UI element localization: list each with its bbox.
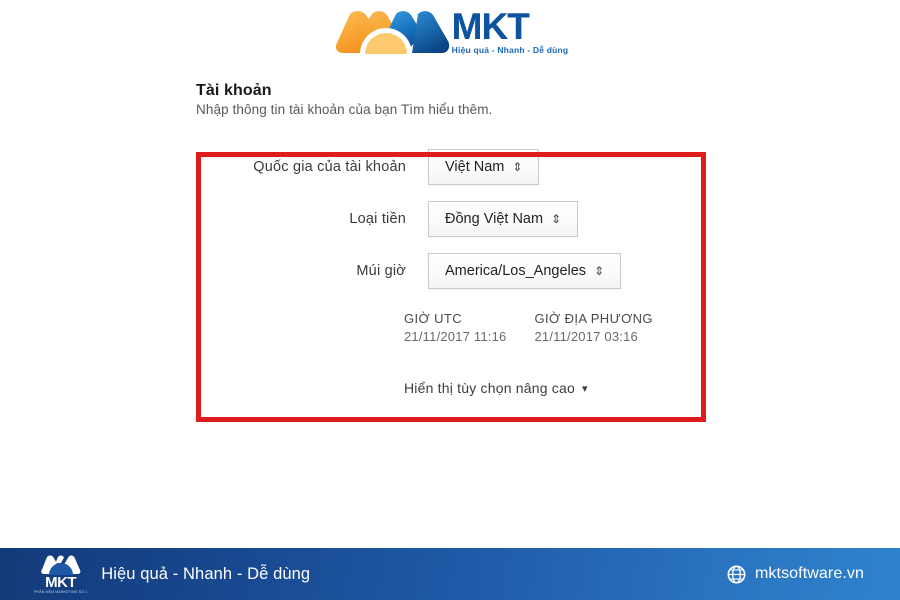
main-content: Tài khoản Nhập thông tin tài khoản của b… xyxy=(0,82,900,398)
label-currency: Loại tiền xyxy=(196,211,428,227)
select-timezone-value: America/Los_Angeles xyxy=(445,263,586,279)
local-time-label: GIỜ ĐỊA PHƯƠNG xyxy=(534,311,652,326)
logo-wordmark-block: MKT Hiệu quả - Nhanh - Dễ dùng xyxy=(452,9,569,55)
chevron-updown-icon: ⇕ xyxy=(512,161,522,173)
page-subtitle: Nhập thông tin tài khoản của bạn Tìm hiể… xyxy=(196,102,900,117)
footer-slogan: Hiệu quả - Nhanh - Dễ dùng xyxy=(101,565,310,584)
show-advanced-options-label: Hiển thị tùy chọn nâng cao xyxy=(404,380,575,396)
globe-icon xyxy=(727,565,746,584)
page-header: MKT Hiệu quả - Nhanh - Dễ dùng xyxy=(0,0,900,60)
form-row-currency: Loại tiền Đồng Việt Nam ⇕ xyxy=(196,201,900,237)
select-account-country-value: Việt Nam xyxy=(445,159,504,175)
logo-tagline: Hiệu quả - Nhanh - Dễ dùng xyxy=(452,45,569,55)
form-row-timezone: Múi giờ America/Los_Angeles ⇕ xyxy=(196,253,900,289)
select-currency-value: Đồng Việt Nam xyxy=(445,211,543,227)
time-info: GIỜ UTC 21/11/2017 11:16 GIỜ ĐỊA PHƯƠNG … xyxy=(404,311,900,344)
chevron-updown-icon: ⇕ xyxy=(594,265,604,277)
mkt-logo-icon xyxy=(332,7,452,57)
footer-website[interactable]: mktsoftware.vn xyxy=(727,565,864,584)
footer-logo-tagline: PHẦN MỀM MARKETING SỐ 1 xyxy=(34,591,87,595)
logo-wordmark: MKT xyxy=(452,9,529,44)
account-settings-form: Quốc gia của tài khoản Việt Nam ⇕ Loại t… xyxy=(196,133,900,398)
select-timezone[interactable]: America/Los_Angeles ⇕ xyxy=(428,253,621,289)
utc-time-label: GIỜ UTC xyxy=(404,311,506,326)
select-currency[interactable]: Đồng Việt Nam ⇕ xyxy=(428,201,578,237)
select-account-country[interactable]: Việt Nam ⇕ xyxy=(428,149,539,185)
time-column-local: GIỜ ĐỊA PHƯƠNG 21/11/2017 03:16 xyxy=(534,311,652,344)
local-time-value: 21/11/2017 03:16 xyxy=(534,329,652,344)
time-column-utc: GIỜ UTC 21/11/2017 11:16 xyxy=(404,311,506,344)
chevron-updown-icon: ⇕ xyxy=(551,213,561,225)
footer-website-label: mktsoftware.vn xyxy=(755,565,864,583)
footer-logo-word: MKT xyxy=(45,575,76,590)
brand-logo: MKT Hiệu quả - Nhanh - Dễ dùng xyxy=(332,7,569,57)
footer-brand: MKT PHẦN MỀM MARKETING SỐ 1 Hiệu quả - N… xyxy=(34,554,310,595)
utc-time-value: 21/11/2017 11:16 xyxy=(404,329,506,344)
chevron-down-icon: ▾ xyxy=(582,382,588,395)
mkt-logo-icon xyxy=(41,554,81,576)
show-advanced-options-link[interactable]: Hiển thị tùy chọn nâng cao ▾ xyxy=(404,380,588,396)
label-timezone: Múi giờ xyxy=(196,263,428,279)
footer-logo: MKT PHẦN MỀM MARKETING SỐ 1 xyxy=(34,554,87,595)
form-row-account-country: Quốc gia của tài khoản Việt Nam ⇕ xyxy=(196,149,900,185)
page-footer: MKT PHẦN MỀM MARKETING SỐ 1 Hiệu quả - N… xyxy=(0,548,900,600)
label-account-country: Quốc gia của tài khoản xyxy=(196,159,428,175)
page-title: Tài khoản xyxy=(196,82,900,100)
